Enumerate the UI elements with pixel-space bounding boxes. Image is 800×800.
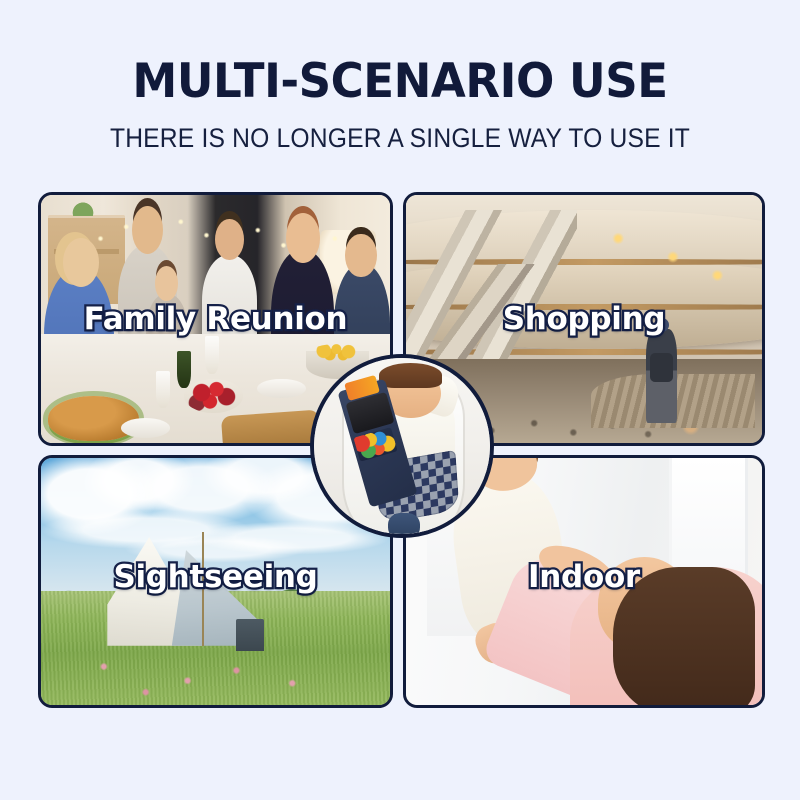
scenario-label-shopping: Shopping <box>406 301 762 337</box>
scenario-label-family-reunion: Family Reunion <box>41 301 390 337</box>
header: MULTI-SCENARIO USE THERE IS NO LONGER A … <box>0 0 800 153</box>
scenario-label-sightseeing: Sightseeing <box>41 559 390 595</box>
center-product-inset[interactable] <box>310 354 494 538</box>
scenario-label-indoor: Indoor <box>406 559 762 595</box>
ceiling-spotlights <box>584 220 755 304</box>
baby-hair <box>379 363 442 388</box>
wine-bottle <box>177 351 191 388</box>
baby-foot <box>388 513 420 534</box>
product-closeup-photo <box>314 358 490 534</box>
bread-board <box>221 410 321 443</box>
wine-glass <box>205 336 219 373</box>
wine-glass <box>156 371 170 408</box>
plate <box>121 418 170 438</box>
shopper-with-camera <box>646 329 676 423</box>
poster-canvas: MULTI-SCENARIO USE THERE IS NO LONGER A … <box>0 0 800 800</box>
page-title: MULTI-SCENARIO USE <box>16 58 784 105</box>
page-subtitle: THERE IS NO LONGER A SINGLE WAY TO USE I… <box>28 124 772 153</box>
wildflowers <box>41 641 390 705</box>
